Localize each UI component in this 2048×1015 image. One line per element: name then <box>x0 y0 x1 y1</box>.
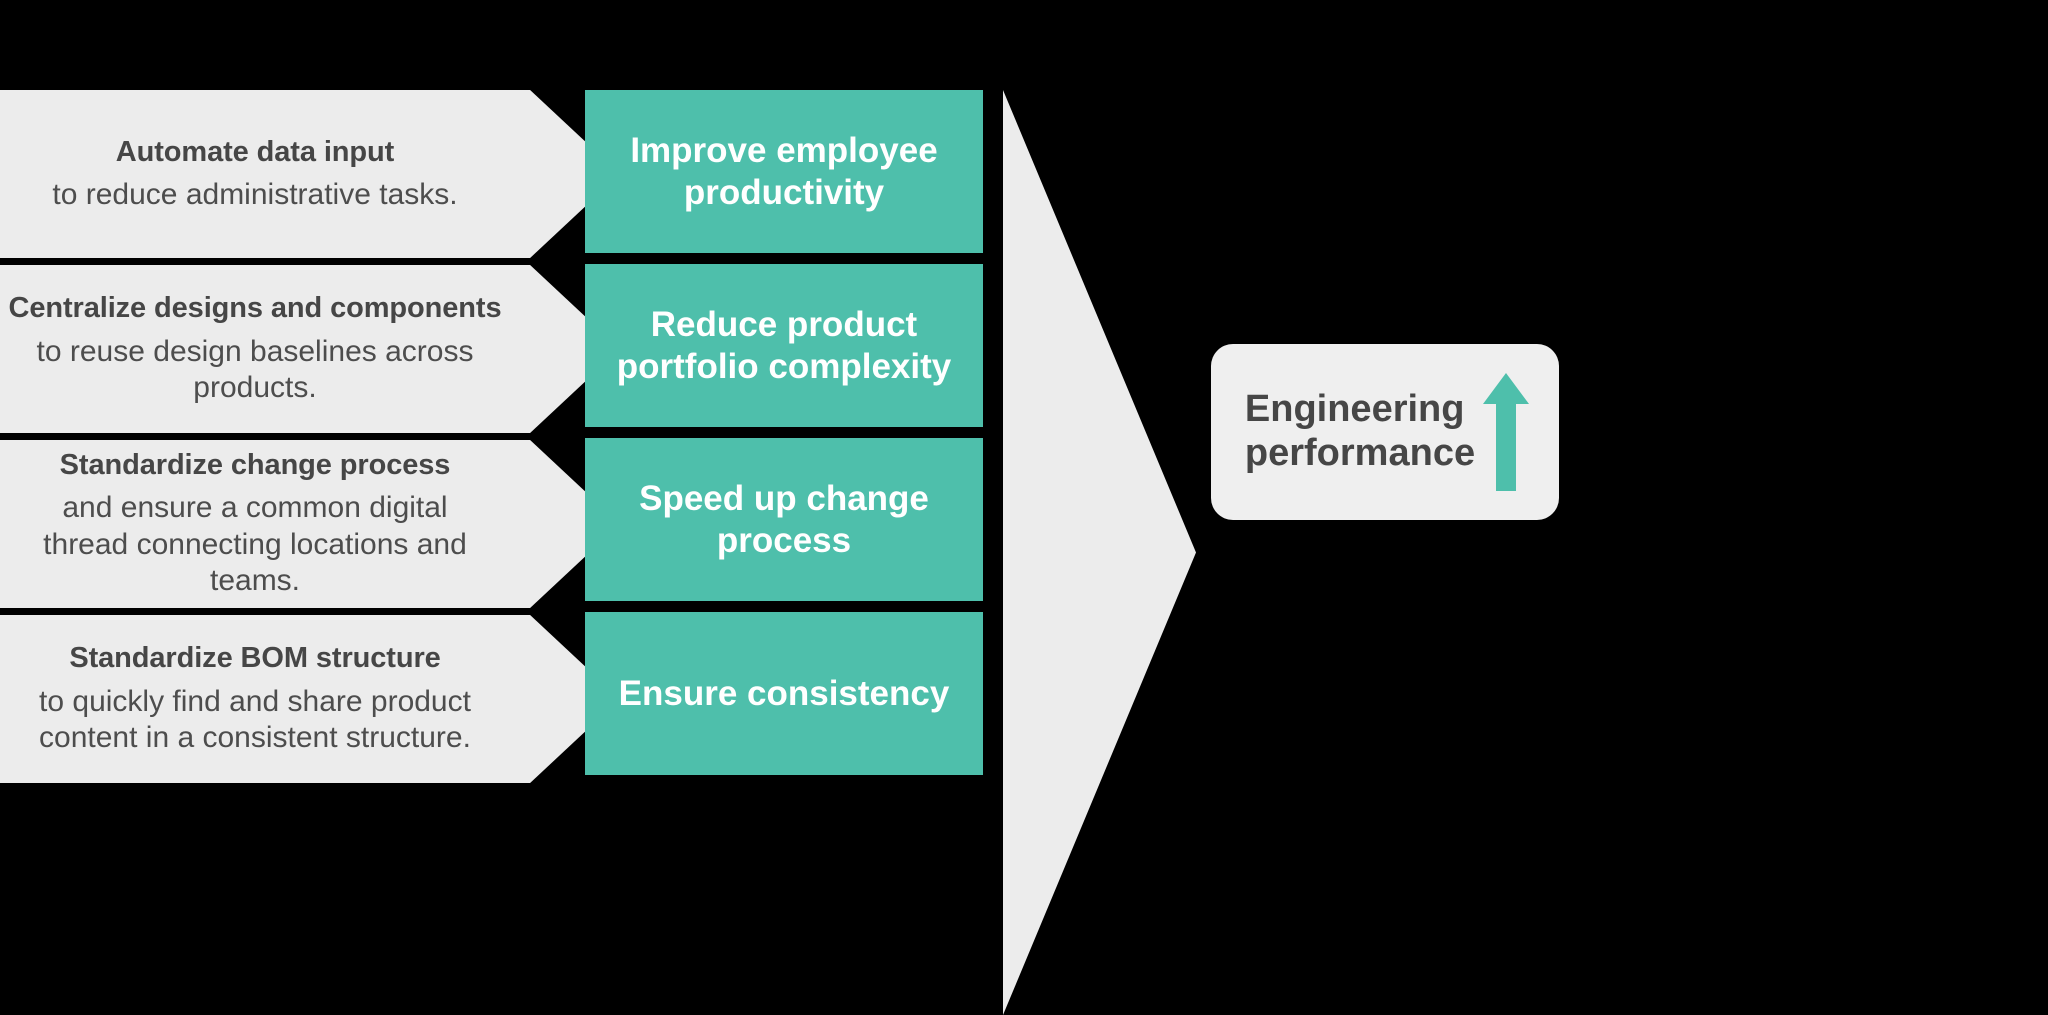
goal-box-4[interactable]: Ensure consistency <box>585 612 983 775</box>
up-arrow-icon <box>1483 373 1529 491</box>
action-subtitle: to quickly find and share product conten… <box>20 684 490 757</box>
action-subtitle: to reuse design baselines across product… <box>20 334 490 407</box>
action-subtitle: and ensure a common digital thread conne… <box>20 490 490 600</box>
action-arrow-4[interactable]: Standardize BOM structure to quickly fin… <box>0 615 620 783</box>
goal-box-3[interactable]: Speed up change process <box>585 438 983 601</box>
goal-box-1[interactable]: Improve employee productivity <box>585 90 983 253</box>
result-label: Engineering performance <box>1245 388 1475 475</box>
goal-label: Improve employee productivity <box>585 130 983 214</box>
result-card[interactable]: Engineering performance <box>1211 344 1559 520</box>
action-title: Standardize BOM structure <box>69 641 440 675</box>
action-title: Automate data input <box>116 135 394 169</box>
diagram-canvas: Automate data input to reduce administra… <box>0 0 2048 1015</box>
goal-box-2[interactable]: Reduce product portfolio complexity <box>585 264 983 427</box>
action-title: Standardize change process <box>60 448 451 482</box>
goal-label: Speed up change process <box>585 478 983 562</box>
goal-label: Ensure consistency <box>605 673 964 715</box>
action-arrow-1[interactable]: Automate data input to reduce administra… <box>0 90 620 258</box>
action-subtitle: to reduce administrative tasks. <box>52 177 457 214</box>
action-arrow-3[interactable]: Standardize change process and ensure a … <box>0 440 620 608</box>
action-arrow-2[interactable]: Centralize designs and components to reu… <box>0 265 620 433</box>
convergence-arrow-icon <box>1003 90 1196 1015</box>
goal-label: Reduce product portfolio complexity <box>585 304 983 388</box>
action-title: Centralize designs and components <box>8 291 501 325</box>
